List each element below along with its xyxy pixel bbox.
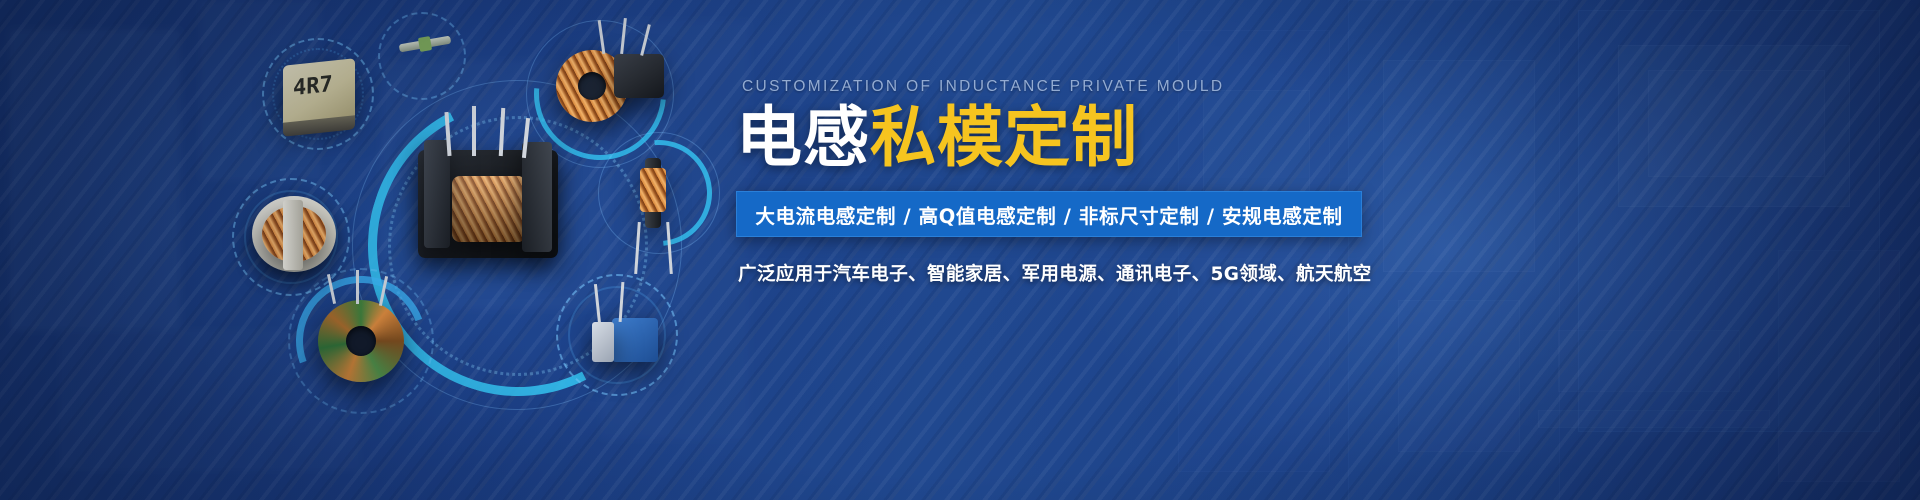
product-green-toroid-hole	[346, 326, 376, 356]
product-toroid-top-lead-3	[640, 24, 651, 56]
product-main-choke-winding-shade	[452, 176, 526, 242]
product-toroidal-inductor-top-hole	[578, 72, 606, 100]
product-toroid-top-black-core	[614, 54, 664, 98]
promo-banner: 4R7 CUSTOMIZATION OF INDUCTANCE PRIVATE …	[0, 0, 1920, 500]
product-toroid-top-lead-2	[620, 18, 627, 54]
product-main-choke-pin-3	[499, 108, 506, 156]
page-title: 电感私模定制	[736, 104, 1396, 171]
product-rod-inductor-lead-left	[634, 222, 641, 274]
banner-text-block: CUSTOMIZATION OF INDUCTANCE PRIVATE MOUL…	[736, 78, 1396, 286]
page-title-white-part: 电感	[736, 99, 870, 176]
product-blue-radial-lead-left	[594, 284, 601, 324]
product-blue-radial-inductor	[612, 318, 658, 362]
product-main-choke-pin-2	[472, 106, 476, 156]
product-rod-inductor-lead-right	[666, 222, 673, 274]
product-main-choke-core-left	[424, 140, 450, 248]
tech-ring-top-small	[378, 12, 466, 100]
product-green-toroid-lead-3	[379, 276, 388, 306]
service-highlight-bar[interactable]: 大电流电感定制 / 高Q值电感定制 / 非标尺寸定制 / 安规电感定制	[736, 191, 1362, 237]
product-bobbin-coil-left-core	[283, 200, 303, 270]
product-blue-radial-inductor-side	[592, 322, 614, 362]
product-blue-radial-lead-right	[619, 282, 625, 322]
smd-inductor-code-label: 4R7	[293, 72, 333, 101]
product-green-toroid-lead-2	[356, 270, 359, 304]
product-main-choke-core-right	[522, 142, 552, 252]
service-highlight-bar-text: 大电流电感定制 / 高Q值电感定制 / 非标尺寸定制 / 安规电感定制	[755, 200, 1342, 229]
product-toroid-top-lead-1	[598, 20, 606, 54]
product-axial-component	[399, 36, 452, 53]
product-rod-inductor-winding	[640, 168, 666, 212]
page-title-gold-part: 私模定制	[870, 99, 1138, 176]
product-green-toroid-lead-1	[327, 274, 336, 304]
banner-description: 广泛应用于汽车电子、智能家居、军用电源、通讯电子、5G领域、航天航空	[738, 260, 1396, 286]
banner-eyebrow-english: CUSTOMIZATION OF INDUCTANCE PRIVATE MOUL…	[742, 78, 1396, 96]
